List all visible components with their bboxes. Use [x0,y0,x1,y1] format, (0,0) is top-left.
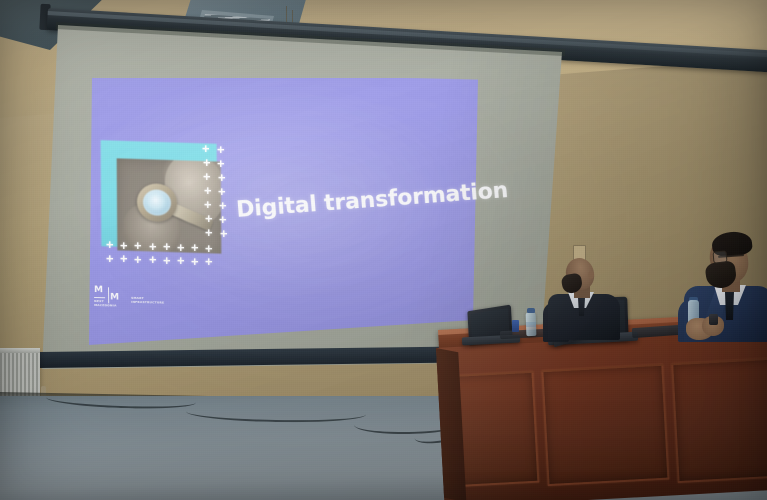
radiator-top-cap [0,348,40,353]
blue-can[interactable] [512,320,519,332]
table-panel-2 [541,364,669,486]
water-bottle-1-cap [527,308,535,313]
glasses-icon-lens [713,250,728,263]
water-bottle-1-label [526,322,536,327]
panelist-right-tie [725,292,734,320]
panelist-left-tie [578,298,585,316]
conference-room-photo: ++++++++++++++++++++++++++++++ Digital t… [0,0,767,500]
panelist-left-ear [588,271,594,279]
wristwatch-icon [709,314,718,325]
panel-table-front [436,330,767,500]
table-panel-3 [671,357,767,483]
